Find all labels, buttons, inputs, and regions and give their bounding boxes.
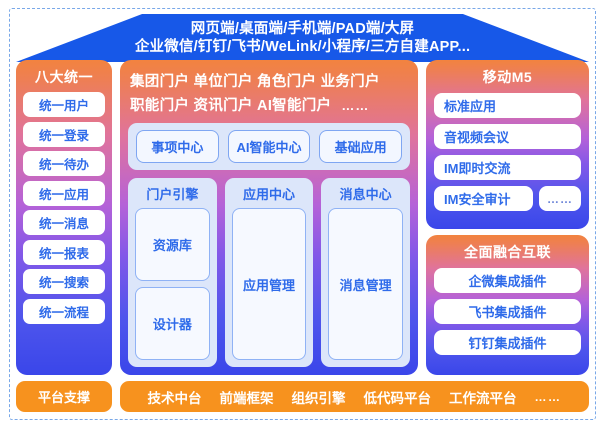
list-item[interactable]: 标准应用 [434, 93, 581, 118]
chip-basic-apps[interactable]: 基础应用 [319, 130, 402, 163]
list-item[interactable]: 统一消息 [23, 210, 105, 235]
bottom-item[interactable]: 技术中台 [148, 387, 202, 407]
portal-row-2: 职能门户 资讯门户 AI智能门户…… [130, 94, 410, 115]
more-ellipsis[interactable]: …… [539, 186, 581, 211]
column-body: 应用管理 [232, 208, 307, 360]
architecture-diagram: 网页端/桌面端/手机端/PAD端/大屏 企业微信/钉钉/飞书/WeLink/小程… [0, 0, 605, 428]
bottom-item[interactable]: 低代码平台 [364, 387, 432, 407]
column-title: 门户引擎 [135, 184, 210, 203]
list-item[interactable]: 统一应用 [23, 181, 105, 206]
integration-panel: 全面融合互联 企微集成插件 飞书集成插件 钉钉集成插件 [426, 235, 589, 375]
bottom-item[interactable]: 前端框架 [220, 387, 274, 407]
list-item[interactable]: 音视频会议 [434, 124, 581, 149]
list-item[interactable]: 统一流程 [23, 299, 105, 324]
center-chip-band: 事项中心 AI智能中心 基础应用 [128, 123, 410, 170]
left-panel-title: 八大统一 [23, 67, 105, 87]
list-item[interactable]: 统一报表 [23, 240, 105, 265]
column-message-center: 消息中心 消息管理 [321, 178, 410, 367]
list-item[interactable]: 统一搜索 [23, 269, 105, 294]
platform-support-row: 平台支撑 技术中台 前端框架 组织引擎 低代码平台 工作流平台 …… [16, 381, 589, 412]
list-item[interactable]: 钉钉集成插件 [434, 330, 581, 355]
right-bottom-title: 全面融合互联 [434, 242, 581, 262]
unified-capabilities-panel: 八大统一 统一用户 统一登录 统一待办 统一应用 统一消息 统一报表 统一搜索 … [16, 60, 112, 375]
portal-row-1: 集团门户 单位门户 角色门户 业务门户 [130, 70, 410, 91]
column-body: 消息管理 [328, 208, 403, 360]
list-item[interactable]: 统一用户 [23, 92, 105, 117]
column-title: 应用中心 [232, 184, 307, 203]
column-app-center: 应用中心 应用管理 [225, 178, 314, 367]
banner-line-2: 企业微信/钉钉/飞书/WeLink/小程序/三方自建APP... [135, 39, 470, 56]
right-bottom-list: 企微集成插件 飞书集成插件 钉钉集成插件 [434, 268, 581, 355]
left-panel-list: 统一用户 统一登录 统一待办 统一应用 统一消息 统一报表 统一搜索 统一流程 [23, 92, 105, 324]
list-item[interactable]: 飞书集成插件 [434, 299, 581, 324]
sub-box-message-management[interactable]: 消息管理 [328, 208, 403, 360]
bottom-item[interactable]: 工作流平台 [449, 387, 517, 407]
column-portal-engine: 门户引擎 资源库 设计器 [128, 178, 217, 367]
mobile-m5-panel: 移动M5 标准应用 音视频会议 IM即时交流 IM安全审计 …… [426, 60, 589, 229]
platform-support-label: 平台支撑 [16, 381, 112, 412]
chip-ai-center[interactable]: AI智能中心 [228, 130, 311, 163]
portal-row-2-ellipsis: …… [341, 98, 369, 113]
sub-box-designer[interactable]: 设计器 [135, 287, 210, 360]
portal-type-list: 集团门户 单位门户 角色门户 业务门户 职能门户 资讯门户 AI智能门户…… [130, 70, 410, 115]
list-item[interactable]: 企微集成插件 [434, 268, 581, 293]
bottom-item[interactable]: 组织引擎 [292, 387, 346, 407]
banner-line-1: 网页端/桌面端/手机端/PAD端/大屏 [191, 21, 414, 38]
platform-support-items: 技术中台 前端框架 组织引擎 低代码平台 工作流平台 …… [120, 381, 589, 412]
chip-affairs-center[interactable]: 事项中心 [136, 130, 219, 163]
list-item-im-audit[interactable]: IM安全审计 [434, 186, 533, 211]
column-body: 资源库 设计器 [135, 208, 210, 360]
center-column-group: 门户引擎 资源库 设计器 应用中心 应用管理 消息中心 消息管理 [128, 178, 410, 367]
portal-platform-panel: 集团门户 单位门户 角色门户 业务门户 职能门户 资讯门户 AI智能门户…… 事… [120, 60, 418, 375]
right-top-last-row: IM安全审计 …… [434, 186, 581, 211]
right-top-list: 标准应用 音视频会议 IM即时交流 IM安全审计 …… [434, 93, 581, 211]
list-item[interactable]: 统一待办 [23, 151, 105, 176]
right-top-title: 移动M5 [434, 67, 581, 87]
sub-box-resource-library[interactable]: 资源库 [135, 208, 210, 281]
list-item[interactable]: 统一登录 [23, 122, 105, 147]
portal-row-2-label: 职能门户 资讯门户 AI智能门户 [130, 98, 331, 114]
column-title: 消息中心 [328, 184, 403, 203]
bottom-ellipsis: …… [535, 390, 562, 404]
list-item[interactable]: IM即时交流 [434, 155, 581, 180]
sub-box-app-management[interactable]: 应用管理 [232, 208, 307, 360]
